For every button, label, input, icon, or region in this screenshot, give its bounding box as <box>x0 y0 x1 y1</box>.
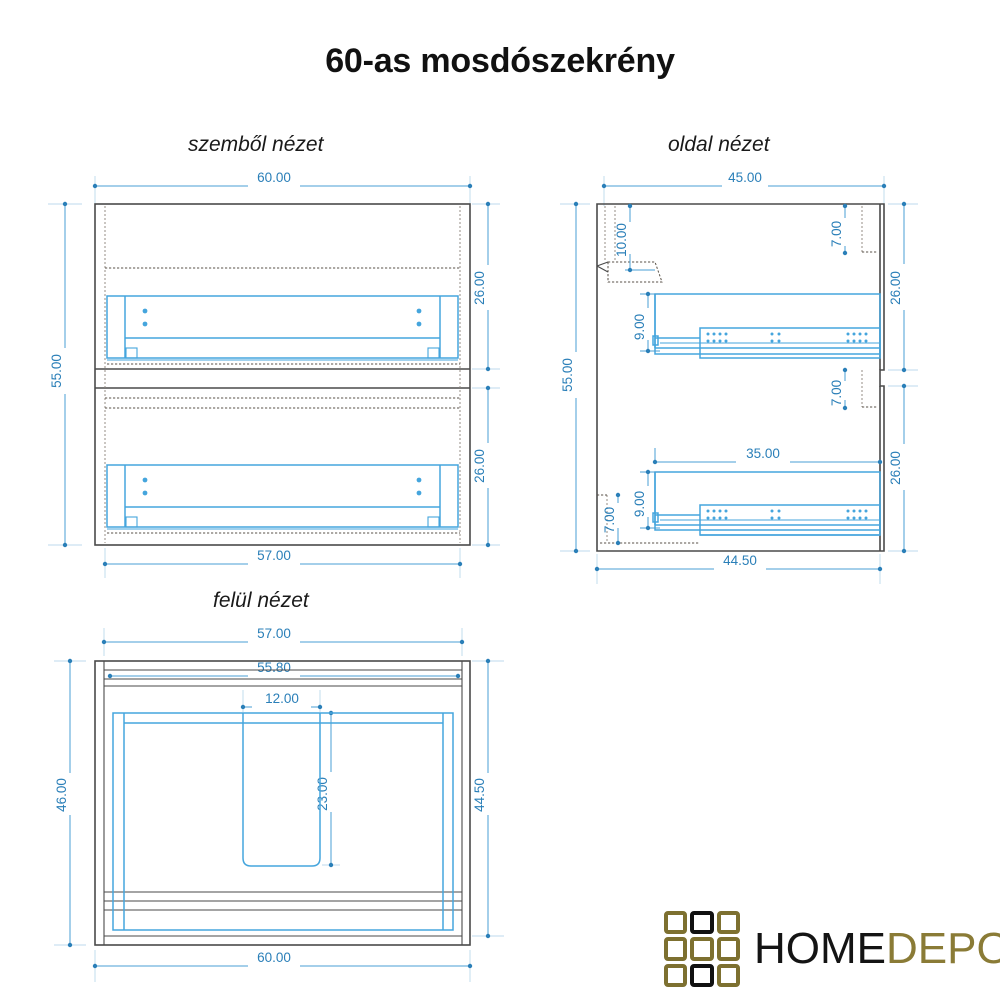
top-dim-5580-value: 55.80 <box>257 660 291 675</box>
top-dim-4600-value: 46.00 <box>54 778 69 812</box>
front-cabinet-outline <box>95 204 470 545</box>
logo-text-depo: DEPO <box>886 924 1000 973</box>
side-dim-right-lower-value: 26.00 <box>888 451 903 485</box>
side-dim-top-value: 45.00 <box>728 170 762 185</box>
front-dim-bottom-width: 57.00 <box>103 548 462 578</box>
side-dim-right-lower: 26.00 <box>888 384 918 553</box>
top-dim-6000-value: 60.00 <box>257 950 291 965</box>
top-dim-2300-value: 23.00 <box>315 777 330 811</box>
side-dim-upper-left-offset: 10.00 <box>614 204 632 268</box>
front-dim-top-value: 60.00 <box>257 170 291 185</box>
side-dim-upper-right-offset: 7.00 <box>829 204 878 255</box>
logo-wordmark: HOMEDEPO <box>754 927 1000 971</box>
top-inner-basin <box>113 713 453 930</box>
side-dim-bottom-width: 44.50 <box>595 553 882 584</box>
front-dim-left-value: 55.00 <box>49 354 64 388</box>
top-dim-57-value: 57.00 <box>257 626 291 641</box>
side-dim-lower-drawer-depth: 35.00 <box>653 446 882 464</box>
side-dim-right-upper-value: 26.00 <box>888 271 903 305</box>
front-dim-bottom-value: 57.00 <box>257 548 291 563</box>
front-dim-right-lower-value: 26.00 <box>472 449 487 483</box>
side-dim-lower-right-value: 7.00 <box>829 380 844 406</box>
logo-cell-2-2 <box>717 964 740 987</box>
top-dim-4450-value: 44.50 <box>472 778 487 812</box>
logo-cell-1-2 <box>717 937 740 960</box>
top-dim-left-depth: 46.00 <box>54 659 86 947</box>
logo-cell-0-0 <box>664 911 687 934</box>
side-view-group: 45.00 55.00 26.00 <box>560 170 918 584</box>
top-dim-right-depth: 44.50 <box>472 659 504 938</box>
top-dim-bottom-width: 60.00 <box>93 950 472 982</box>
top-sink-cutout <box>243 713 320 866</box>
front-lower-drawer <box>105 398 460 533</box>
top-dim-1200-value: 12.00 <box>265 691 299 706</box>
side-dim-lower-right-offset: 7.00 <box>829 368 878 410</box>
homedepo-logo: HOMEDEPO <box>664 908 984 990</box>
top-dim-cutout-height: 23.00 <box>315 711 340 867</box>
side-dim-lower-drawer-value: 9.00 <box>632 491 647 517</box>
front-dim-top-width: 60.00 <box>93 170 472 206</box>
side-dim-lower-depth-value: 35.00 <box>746 446 780 461</box>
side-dim-upper-right-value: 7.00 <box>829 221 844 247</box>
logo-grid-icon <box>664 911 740 987</box>
logo-cell-0-2 <box>717 911 740 934</box>
technical-drawing: .out { stroke:#4a4a4a; stroke-width:1.6;… <box>0 0 1000 1000</box>
side-dim-right-upper: 26.00 <box>888 202 918 372</box>
logo-cell-0-1 <box>690 911 713 934</box>
logo-text-home: HOME <box>754 924 886 973</box>
side-dim-lower-drawer-height: 9.00 <box>632 470 660 530</box>
front-view-group: 60.00 55.00 26.00 <box>48 170 500 578</box>
side-dim-left-value: 55.00 <box>560 358 575 392</box>
front-upper-drawer <box>105 268 460 364</box>
front-dim-right-upper-value: 26.00 <box>472 271 487 305</box>
logo-cell-1-0 <box>664 937 687 960</box>
side-upper-drawer <box>653 294 880 358</box>
side-dim-lower-left-offset: 7.00 <box>597 493 620 545</box>
top-dim-inner-width: 55.80 <box>108 660 460 678</box>
side-dim-upper-left-value: 10.00 <box>614 223 629 257</box>
top-view-group: 57.00 55.80 12.00 <box>54 626 504 982</box>
side-dim-upper-drawer-value: 9.00 <box>632 314 647 340</box>
front-dim-left-height: 55.00 <box>48 202 82 547</box>
logo-cell-1-1 <box>690 937 713 960</box>
side-dim-bottom-value: 44.50 <box>723 553 757 568</box>
top-dim-cutout-width: 12.00 <box>241 690 322 712</box>
logo-cell-2-0 <box>664 964 687 987</box>
front-dim-right-upper: 26.00 <box>472 202 500 371</box>
drawing-page: 60-as mosdószekrény szemből nézet oldal … <box>0 0 1000 1000</box>
front-dim-right-lower: 26.00 <box>472 386 500 547</box>
side-dim-left-height: 55.00 <box>560 202 590 553</box>
side-dim-upper-drawer-height: 9.00 <box>632 292 660 353</box>
side-dim-lower-left-value: 7.00 <box>602 507 617 533</box>
top-dim-width-57: 57.00 <box>102 626 464 656</box>
side-dim-top-width: 45.00 <box>602 170 886 206</box>
logo-cell-2-1 <box>690 964 713 987</box>
